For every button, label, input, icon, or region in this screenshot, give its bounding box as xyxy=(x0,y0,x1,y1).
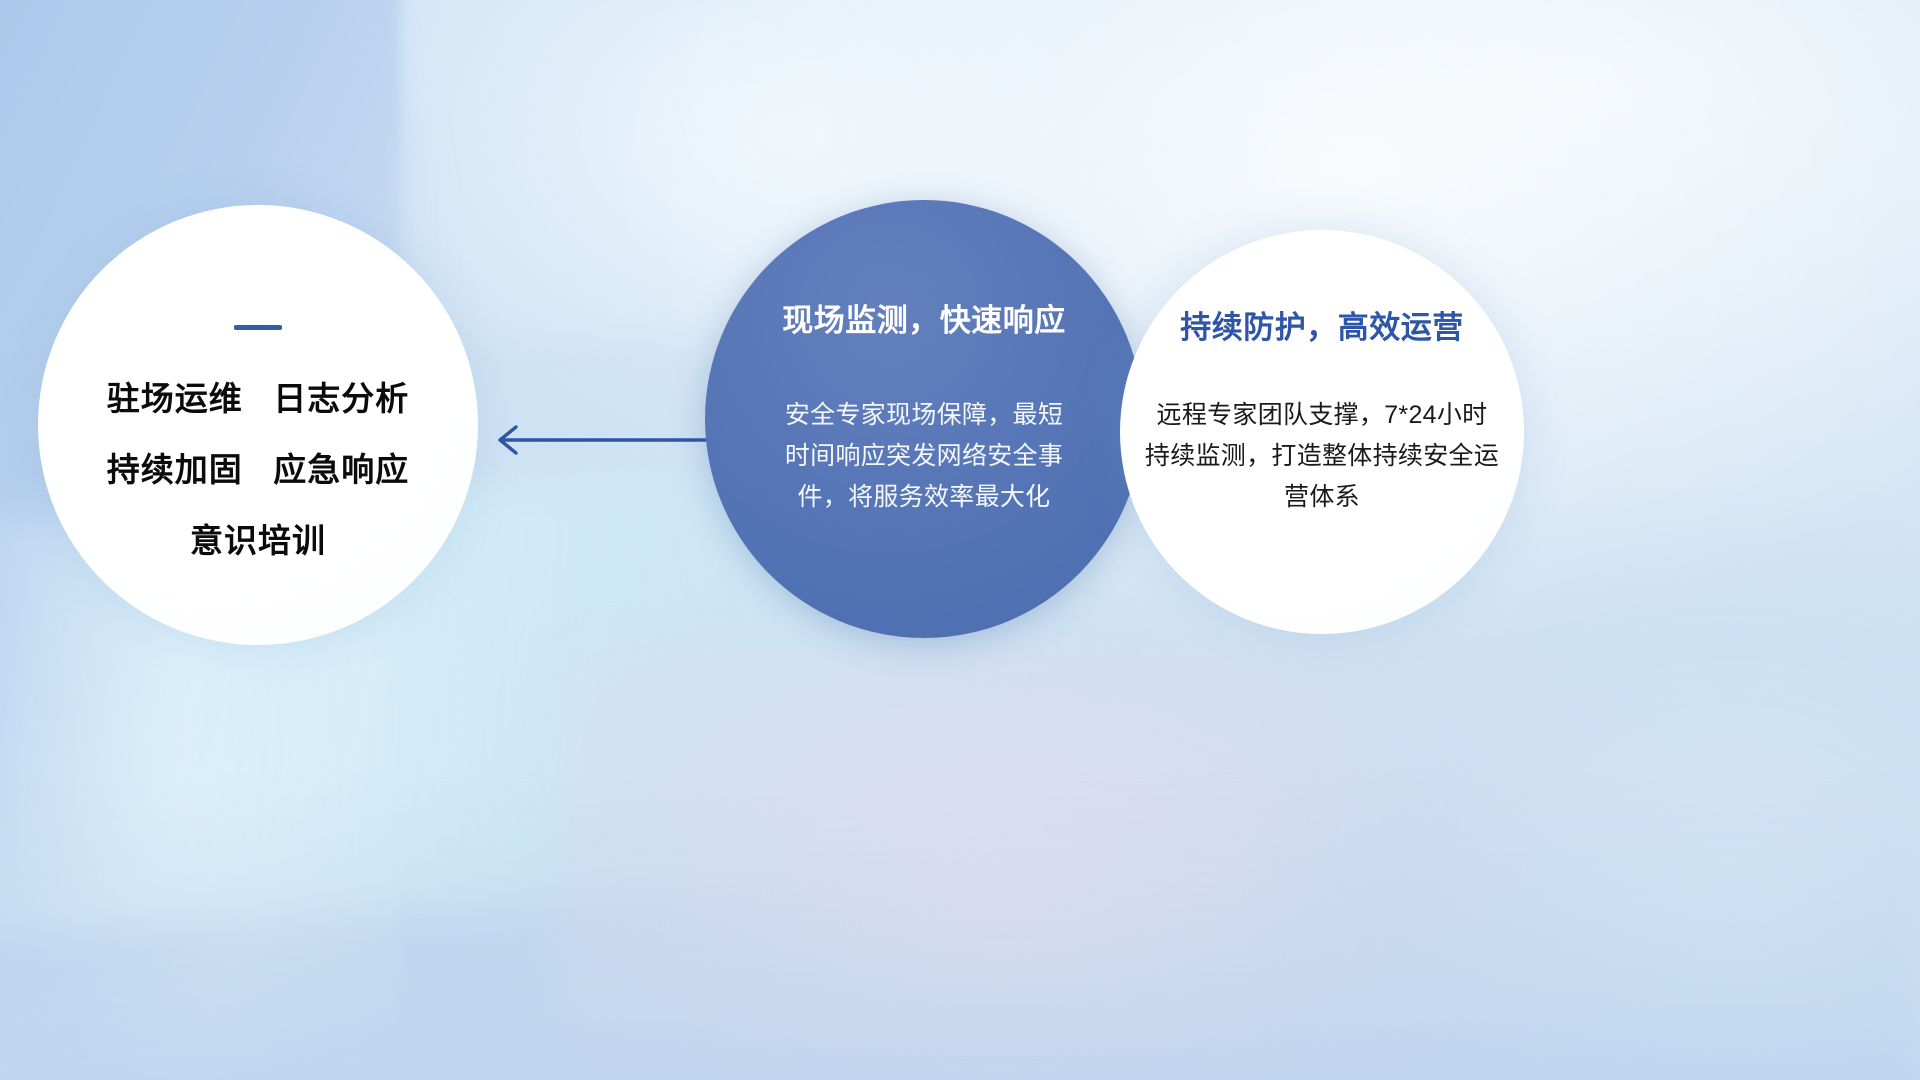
capability-list: 驻场运维 日志分析 持续加固 应急响应 意识培训 xyxy=(107,372,410,562)
capability-row-1: 驻场运维 日志分析 xyxy=(107,372,410,420)
circle-continuous-protection[interactable]: 持续防护，高效运营 远程专家团队支撑，7*24小时持续监测，打造整体持续安全运营… xyxy=(1120,230,1524,634)
capability-row-3: 意识培训 xyxy=(107,514,410,562)
circle-right-title: 持续防护，高效运营 xyxy=(1180,302,1464,347)
capability-row-2: 持续加固 应急响应 xyxy=(107,443,410,491)
slide-canvas: 驻场运维 日志分析 持续加固 应急响应 意识培训 现场监测，快速响应 安全专家现… xyxy=(0,0,1920,1080)
circle-mid-body: 安全专家现场保障，最短时间响应突发网络安全事件，将服务效率最大化 xyxy=(774,395,1074,518)
circle-right-body: 远程专家团队支撑，7*24小时持续监测，打造整体持续安全运营体系 xyxy=(1145,395,1500,518)
circle-capability-list[interactable]: 驻场运维 日志分析 持续加固 应急响应 意识培训 xyxy=(38,205,478,645)
circle-mid-title: 现场监测，快速响应 xyxy=(782,295,1066,340)
background-wash-bottom xyxy=(0,780,1920,1080)
divider-dash-icon xyxy=(234,325,282,330)
circle-onsite-monitoring[interactable]: 现场监测，快速响应 安全专家现场保障，最短时间响应突发网络安全事件，将服务效率最… xyxy=(705,200,1143,638)
